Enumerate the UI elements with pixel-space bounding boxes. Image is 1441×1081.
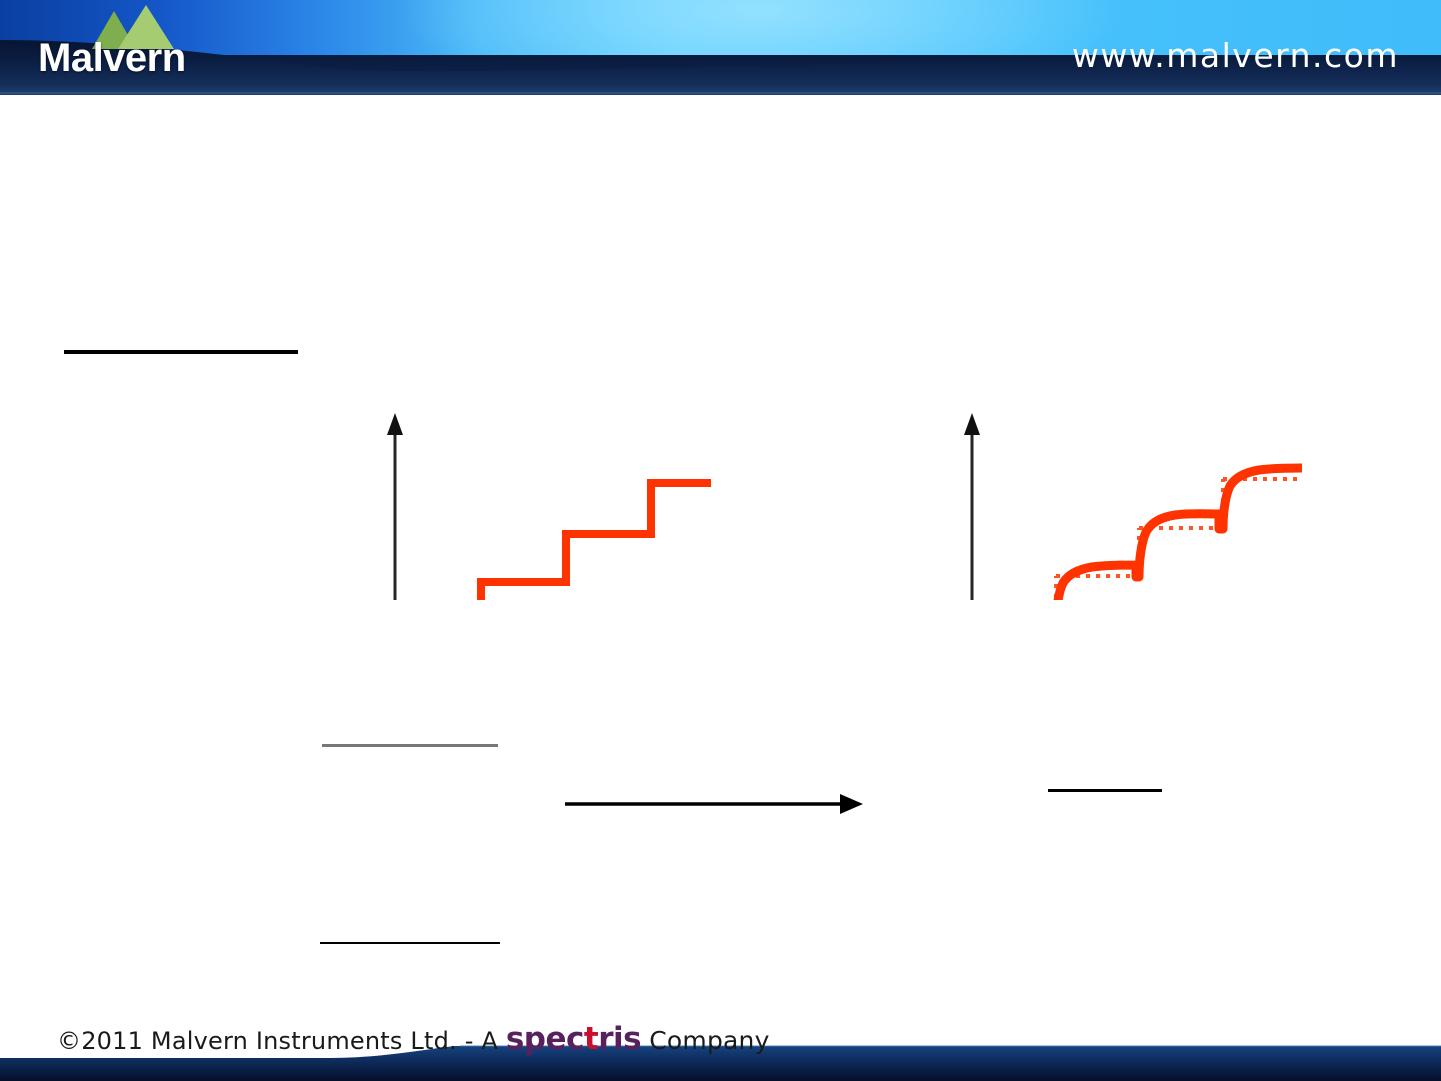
y-axis-arrowhead — [387, 413, 403, 435]
caption-rule-left — [322, 744, 498, 747]
company-url: www.malvern.com — [1072, 36, 1399, 75]
series-measured-response — [973, 468, 1302, 600]
title-rule — [64, 350, 298, 354]
slide-content-area — [0, 95, 1441, 1025]
caption-rule-right — [1048, 789, 1162, 792]
transition-arrow — [555, 780, 875, 820]
page-footer: ©2011 Malvern Instruments Ltd. - A spect… — [0, 1020, 1441, 1081]
footer-company-word: Company — [641, 1026, 769, 1055]
series-ideal-step — [396, 483, 711, 600]
spectris-logo-part2: ris — [598, 1021, 641, 1057]
y-axis-arrowhead — [964, 413, 980, 435]
spectris-logo-t: t — [584, 1021, 598, 1057]
footer-copyright: ©2011 Malvern Instruments Ltd. - A spect… — [57, 1021, 770, 1057]
chart-ideal-step-response — [370, 310, 740, 600]
caption-rule-bottom — [320, 942, 500, 944]
series-ideal-reference-dotted — [973, 479, 1301, 600]
brand-wordmark: Malvern — [38, 36, 186, 81]
page-header: Malvern www.malvern.com — [0, 0, 1441, 95]
chart-real-step-response — [950, 310, 1320, 600]
footer-copyright-text: ©2011 Malvern Instruments Ltd. - A — [57, 1027, 506, 1055]
spectris-logo-part1: spec — [506, 1021, 584, 1057]
